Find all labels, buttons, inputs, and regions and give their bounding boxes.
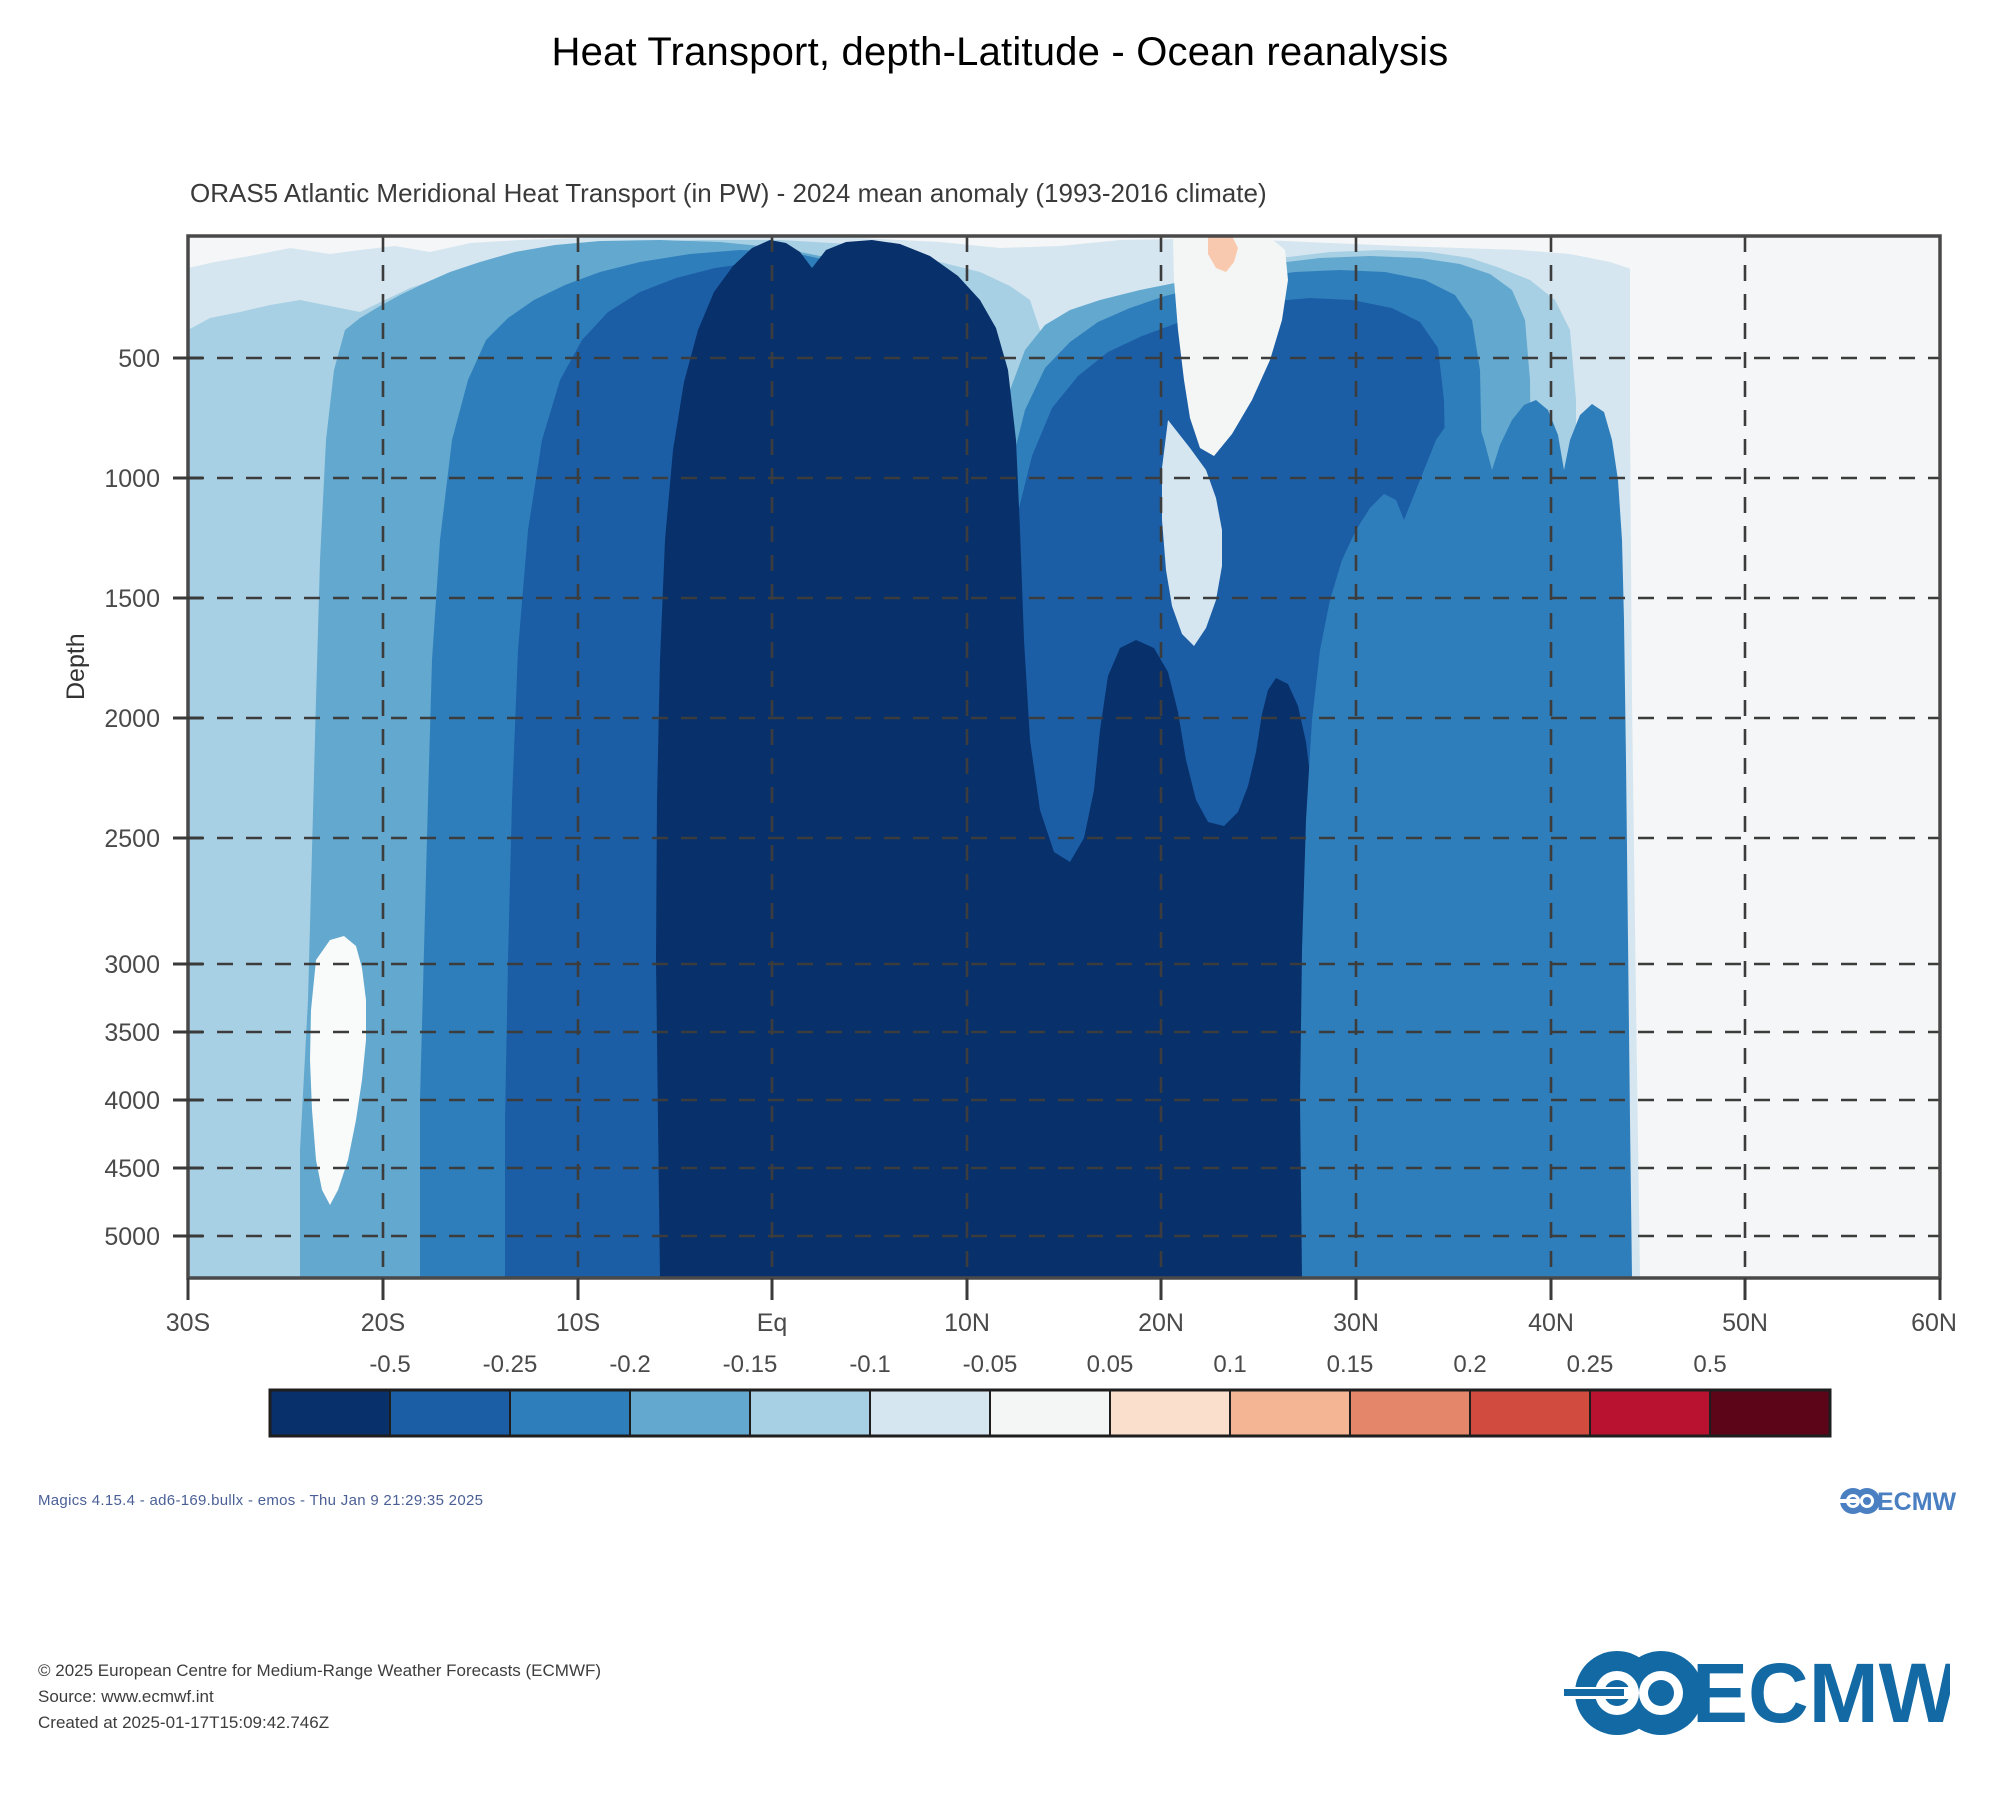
x-tick-label: 10N — [944, 1309, 990, 1337]
x-tick-label: Eq — [757, 1309, 788, 1337]
colorbar-tick-label: -0.2 — [609, 1351, 650, 1378]
x-tick-label: 20N — [1138, 1309, 1184, 1337]
created-line: Created at 2025-01-17T15:09:42.746Z — [38, 1710, 601, 1736]
colorbar-swatch[interactable] — [1230, 1390, 1350, 1436]
x-tick-label: 30N — [1333, 1309, 1379, 1337]
chart-figure: 500 1000 1500 2000 2500 3000 3500 4000 4… — [0, 0, 2000, 1800]
colorbar-swatch[interactable] — [390, 1390, 510, 1436]
colorbar-tick-label: -0.1 — [849, 1351, 890, 1378]
colorbar-tick-label: 0.15 — [1327, 1351, 1374, 1378]
colorbar-tick-label: 0.2 — [1453, 1351, 1486, 1378]
colorbar-tick-label: 0.1 — [1213, 1351, 1246, 1378]
y-tick-label: 1000 — [104, 465, 160, 493]
colorbar-tick-label: -0.15 — [723, 1351, 778, 1378]
no-data-edge-taper — [1630, 236, 1690, 1278]
colorbar-swatch[interactable] — [270, 1390, 390, 1436]
colorbar-swatch[interactable] — [1710, 1390, 1830, 1436]
y-tick-label: 4500 — [104, 1155, 160, 1183]
source-line: Source: www.ecmwf.int — [38, 1684, 601, 1710]
ecmwf-logo-small: ECMWF — [1836, 1484, 1956, 1518]
colorbar-swatch[interactable] — [510, 1390, 630, 1436]
x-tick-label: 10S — [556, 1309, 600, 1337]
magics-credit: Magics 4.15.4 - ad6-169.bullx - emos - T… — [38, 1492, 483, 1509]
x-tick-marks — [188, 1278, 1940, 1300]
y-tick-label: 2500 — [104, 825, 160, 853]
colorbar[interactable]: -0.5-0.25-0.2-0.15-0.1-0.050.050.10.150.… — [270, 1351, 1830, 1436]
ecmwf-logo-small-mark — [1837, 1488, 1880, 1514]
colorbar-swatch[interactable] — [1350, 1390, 1470, 1436]
y-tick-label: 1500 — [104, 585, 160, 613]
ecmwf-logo-text: ECMWF — [1692, 1646, 1950, 1740]
ecmwf-logo-small-text: ECMWF — [1877, 1488, 1956, 1516]
colorbar-swatch[interactable] — [630, 1390, 750, 1436]
colorbar-tick-label: -0.25 — [483, 1351, 538, 1378]
colorbar-tick-label: 0.05 — [1087, 1351, 1134, 1378]
y-tick-labels: 500 1000 1500 2000 2500 3000 3500 4000 4… — [104, 345, 160, 1251]
contour-bands-group — [188, 236, 1940, 1278]
y-tick-label: 3000 — [104, 951, 160, 979]
no-data-region — [1680, 236, 1940, 1278]
ecmwf-logo: ECMWF — [1560, 1638, 1950, 1748]
x-tick-label: 60N — [1911, 1309, 1957, 1337]
colorbar-swatch[interactable] — [870, 1390, 990, 1436]
ecmwf-logo-mark — [1564, 1651, 1703, 1735]
y-tick-label: 500 — [118, 345, 160, 373]
y-tick-label: 2000 — [104, 705, 160, 733]
colorbar-swatch[interactable] — [750, 1390, 870, 1436]
x-tick-label: 30S — [166, 1309, 210, 1337]
colorbar-swatch[interactable] — [990, 1390, 1110, 1436]
colorbar-tick-label: -0.05 — [963, 1351, 1018, 1378]
copyright-line: © 2025 European Centre for Medium-Range … — [38, 1658, 601, 1684]
y-tick-label: 4000 — [104, 1087, 160, 1115]
contour-plot-svg: 500 1000 1500 2000 2500 3000 3500 4000 4… — [0, 0, 2000, 1500]
y-tick-label: 3500 — [104, 1019, 160, 1047]
colorbar-swatch[interactable] — [1470, 1390, 1590, 1436]
colorbar-tick-label: 0.25 — [1567, 1351, 1614, 1378]
x-tick-label: 20S — [361, 1309, 405, 1337]
x-tick-label: 50N — [1722, 1309, 1768, 1337]
x-tick-labels: 30S 20S 10S Eq 10N 20N 30N 40N 50N 60N — [166, 1309, 1957, 1337]
colorbar-tick-label: -0.5 — [369, 1351, 410, 1378]
footer-text: © 2025 European Centre for Medium-Range … — [38, 1658, 601, 1736]
y-tick-label: 5000 — [104, 1223, 160, 1251]
colorbar-swatch[interactable] — [1590, 1390, 1710, 1436]
x-tick-label: 40N — [1528, 1309, 1574, 1337]
colorbar-tick-label: 0.5 — [1693, 1351, 1726, 1378]
colorbar-swatch[interactable] — [1110, 1390, 1230, 1436]
